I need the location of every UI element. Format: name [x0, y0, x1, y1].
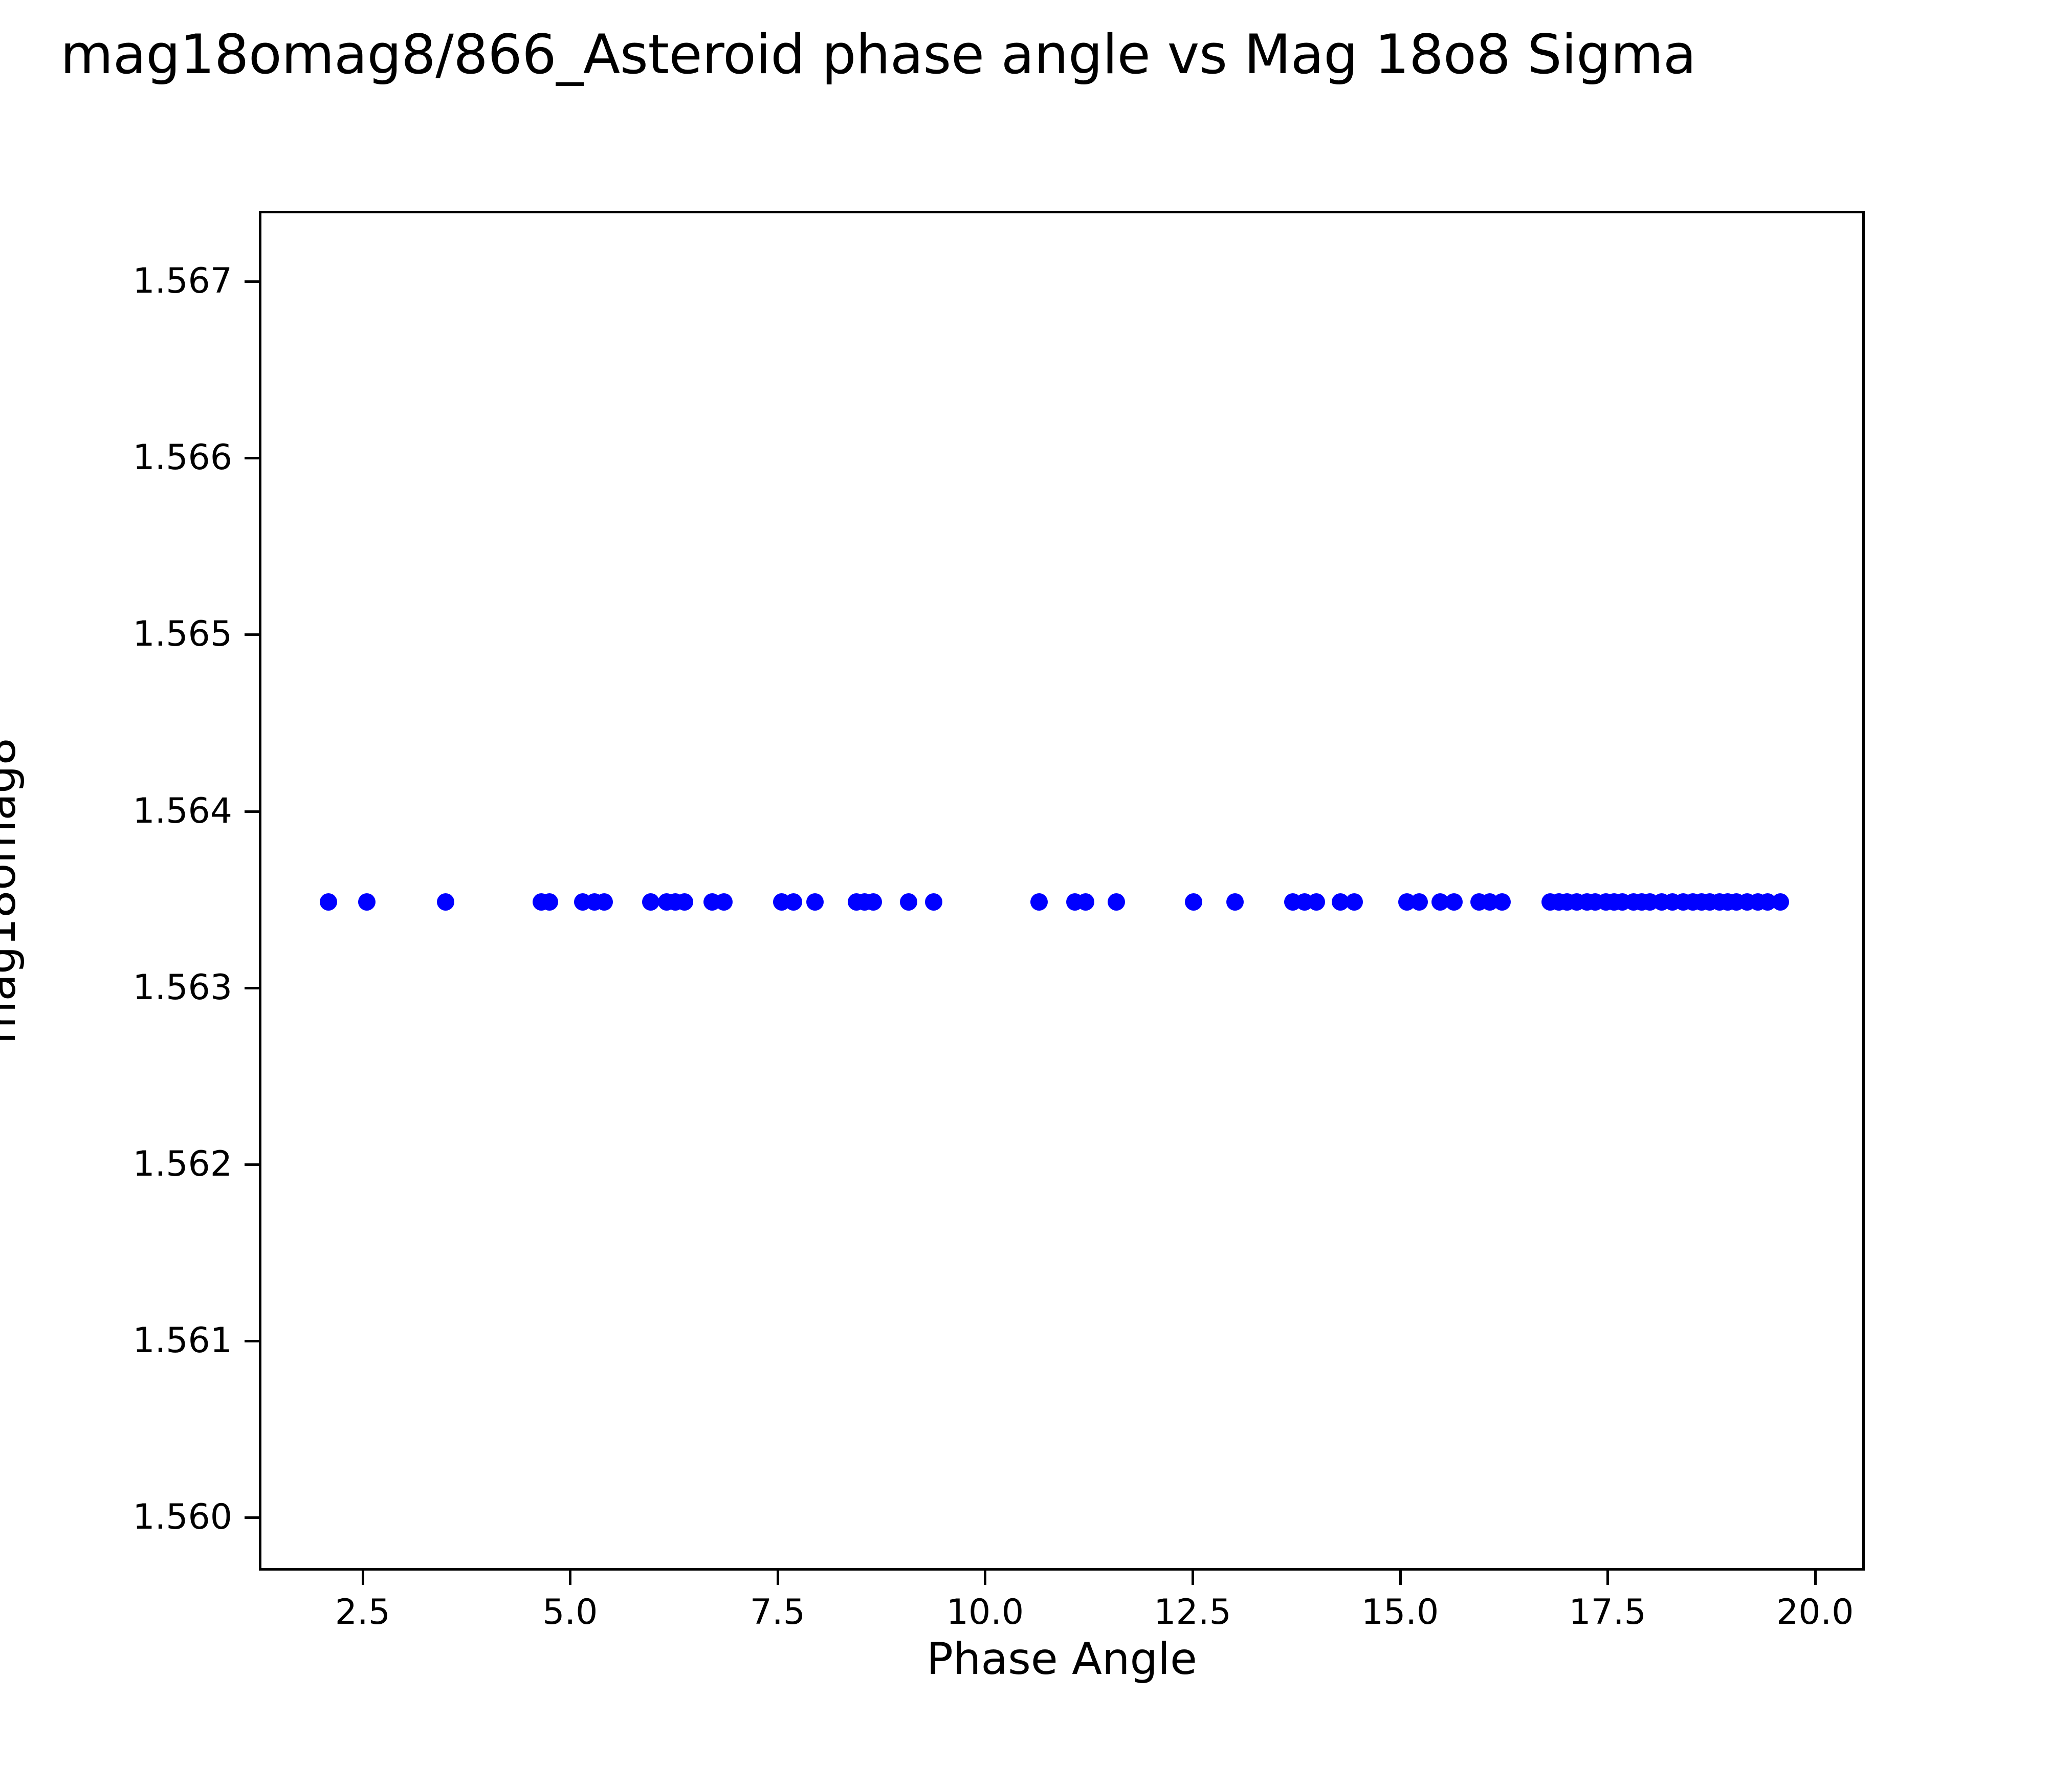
- data-point: [1410, 893, 1428, 911]
- data-point: [900, 893, 917, 911]
- data-point: [1185, 893, 1202, 911]
- x-tick-label: 2.5: [209, 1592, 516, 1633]
- data-point: [1346, 893, 1363, 911]
- data-point: [358, 893, 376, 911]
- x-axis-title: Phase Angle: [259, 1637, 1865, 1681]
- data-point: [806, 893, 824, 911]
- data-point: [676, 893, 693, 911]
- x-tick-mark: [1192, 1571, 1194, 1585]
- data-point: [785, 893, 802, 911]
- y-tick-label: 1.561: [0, 1320, 232, 1361]
- data-point: [320, 893, 337, 911]
- data-point: [1226, 893, 1244, 911]
- page-title: mag18omag8/866_Asteroid phase angle vs M…: [0, 25, 2072, 85]
- x-tick-mark: [569, 1571, 571, 1585]
- y-tick-mark: [245, 457, 259, 459]
- y-tick-label: 1.563: [0, 967, 232, 1008]
- data-point: [925, 893, 942, 911]
- data-point: [715, 893, 733, 911]
- y-tick-mark: [245, 1163, 259, 1166]
- data-point: [1108, 893, 1125, 911]
- scatter-series: [261, 213, 1862, 1568]
- x-tick-mark: [1399, 1571, 1402, 1585]
- data-point: [642, 893, 659, 911]
- x-tick-label: 15.0: [1247, 1592, 1554, 1633]
- y-tick-mark: [245, 810, 259, 813]
- data-point: [1445, 893, 1463, 911]
- y-tick-label: 1.565: [0, 614, 232, 655]
- y-tick-mark: [245, 987, 259, 989]
- x-tick-label: 20.0: [1662, 1592, 1969, 1633]
- y-tick-label: 1.566: [0, 437, 232, 478]
- x-tick-label: 17.5: [1454, 1592, 1761, 1633]
- data-point: [596, 893, 613, 911]
- x-tick-label: 5.0: [416, 1592, 723, 1633]
- data-point: [437, 893, 454, 911]
- y-tick-mark: [245, 280, 259, 283]
- data-point: [541, 893, 558, 911]
- plot-area: [259, 211, 1865, 1571]
- data-point: [1308, 893, 1325, 911]
- data-point: [1077, 893, 1094, 911]
- y-tick-mark: [245, 1340, 259, 1342]
- data-point: [1772, 893, 1789, 911]
- y-tick-mark: [245, 633, 259, 636]
- y-tick-label: 1.562: [0, 1144, 232, 1185]
- x-tick-mark: [984, 1571, 986, 1585]
- x-tick-label: 7.5: [624, 1592, 931, 1633]
- y-tick-mark: [245, 1516, 259, 1519]
- y-tick-label: 1.564: [0, 791, 232, 832]
- data-point: [1493, 893, 1511, 911]
- data-point: [865, 893, 882, 911]
- x-tick-label: 10.0: [831, 1592, 1138, 1633]
- x-tick-mark: [1814, 1571, 1817, 1585]
- y-tick-label: 1.560: [0, 1497, 232, 1538]
- x-tick-label: 12.5: [1039, 1592, 1346, 1633]
- x-tick-mark: [362, 1571, 364, 1585]
- figure-canvas: mag18omag8/866_Asteroid phase angle vs M…: [0, 0, 2072, 1765]
- x-tick-mark: [1606, 1571, 1609, 1585]
- y-axis-title-text: mag18omag8: [0, 533, 25, 1249]
- data-point: [1030, 893, 1048, 911]
- x-tick-mark: [777, 1571, 779, 1585]
- y-tick-label: 1.567: [0, 261, 232, 302]
